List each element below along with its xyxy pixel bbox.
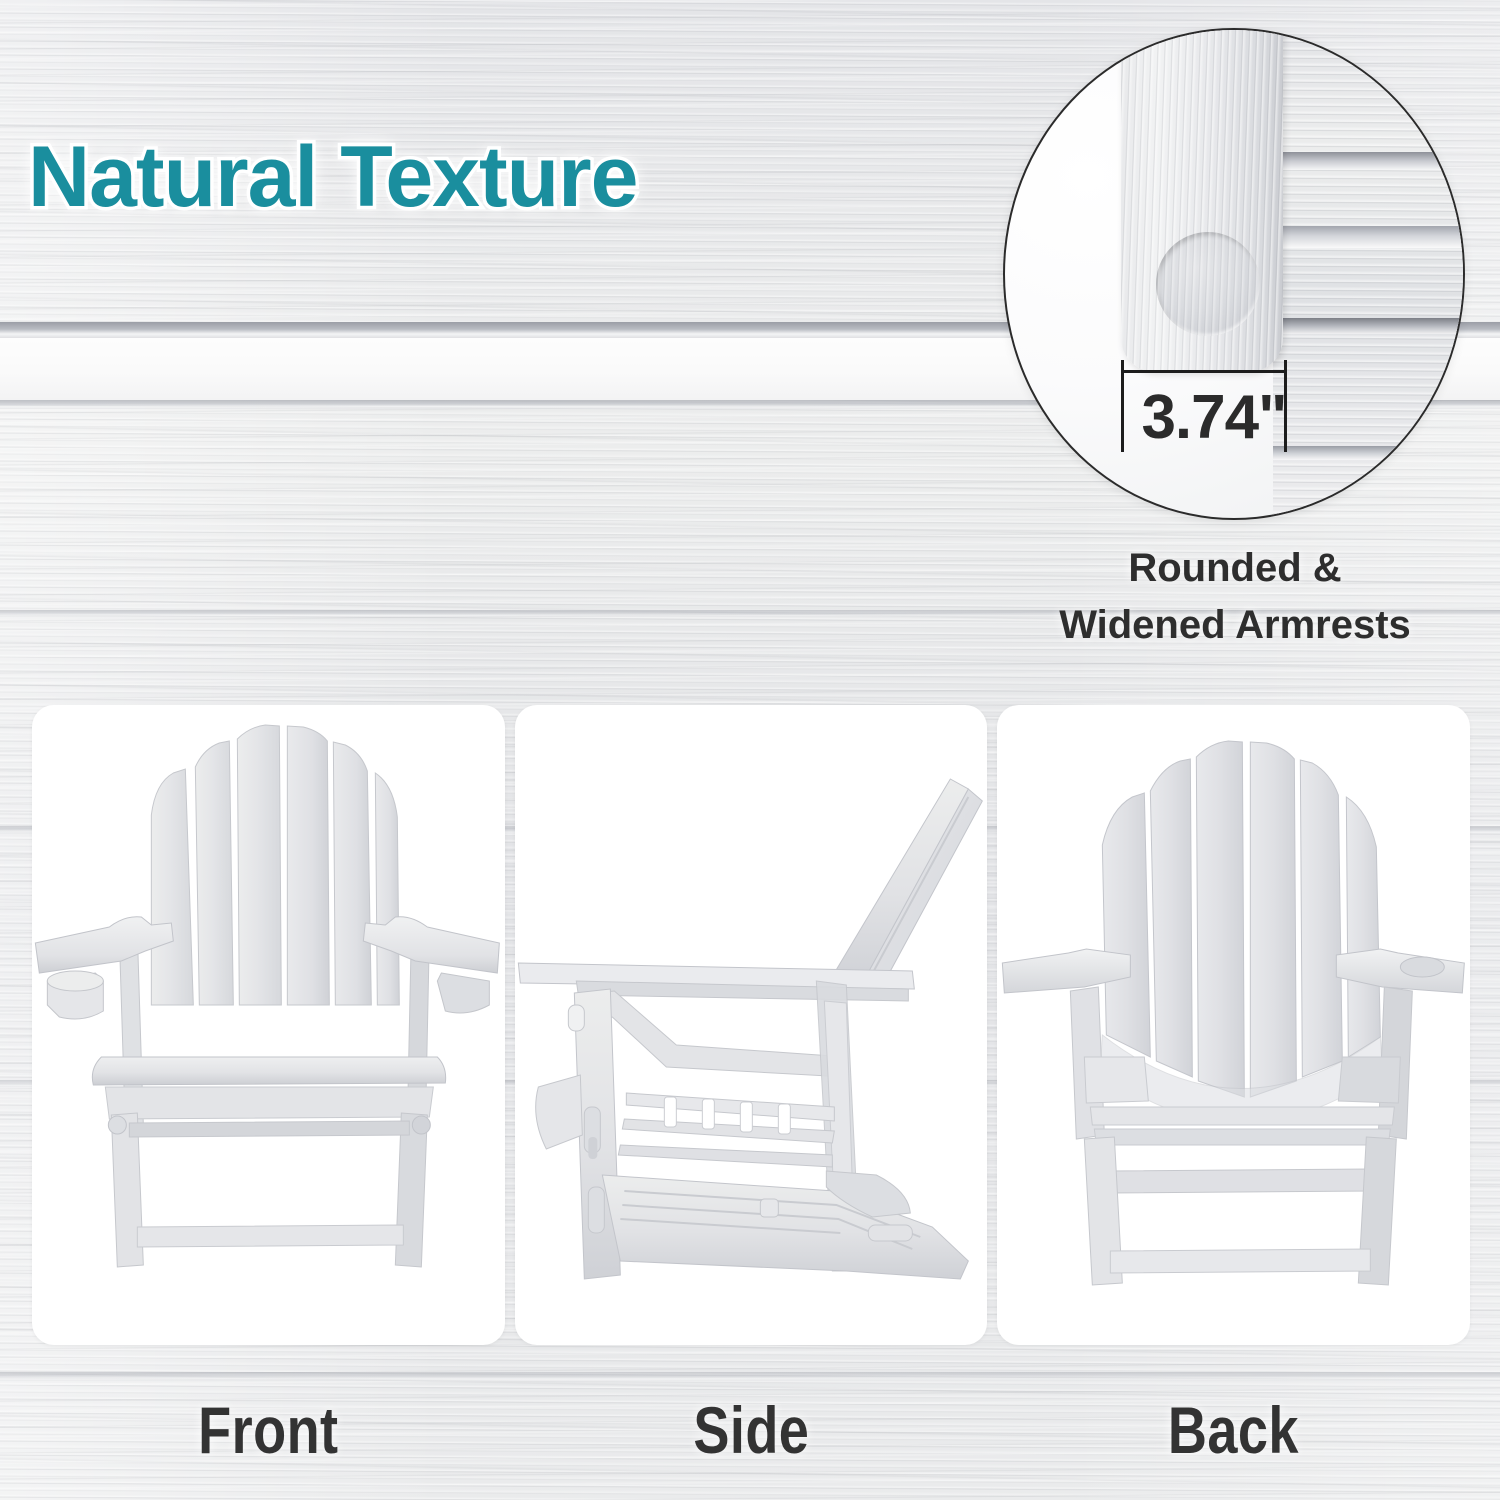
callout-siding-seam-4 <box>1273 446 1465 460</box>
product-view-card-back[interactable] <box>997 705 1470 1345</box>
armrest-caption-line-1: Rounded & <box>1000 540 1470 597</box>
armrest-caption: Rounded & Widened Armrests <box>1000 540 1470 654</box>
armrest-caption-line-2: Widened Armrests <box>1000 597 1470 654</box>
callout-siding-seam-1 <box>1273 152 1465 170</box>
cup-holder-recess <box>1156 232 1260 336</box>
product-views-row <box>32 705 1470 1345</box>
product-view-card-side[interactable] <box>515 705 988 1345</box>
view-label-front: Front <box>75 1392 463 1487</box>
chair-side-illustration <box>515 705 988 1345</box>
armrest-detail-callout: 3.74" <box>1003 28 1465 520</box>
callout-siding-seam-2 <box>1273 226 1465 248</box>
view-label-back: Back <box>1040 1392 1428 1487</box>
product-view-card-front[interactable] <box>32 705 505 1345</box>
dimension-line <box>1121 370 1287 373</box>
page-title: Natural Texture <box>28 128 637 227</box>
chair-back-illustration <box>997 705 1470 1345</box>
dimension-tick-left <box>1121 360 1124 452</box>
infographic-stage: Natural Texture 3.74" Rounded & Widened … <box>0 0 1500 1500</box>
view-label-side: Side <box>557 1392 945 1487</box>
callout-siding-grain <box>1273 30 1465 518</box>
plank-seam-sixth <box>0 1372 1500 1381</box>
callout-siding-seam-3 <box>1273 318 1465 334</box>
dimension-label: 3.74" <box>1129 382 1299 453</box>
callout-background-siding <box>1273 30 1465 518</box>
armrest-slab <box>1121 28 1283 372</box>
cup-holder-grain <box>1156 232 1260 336</box>
chair-front-illustration <box>32 705 505 1345</box>
view-labels-row: Front Side Back <box>32 1392 1470 1487</box>
